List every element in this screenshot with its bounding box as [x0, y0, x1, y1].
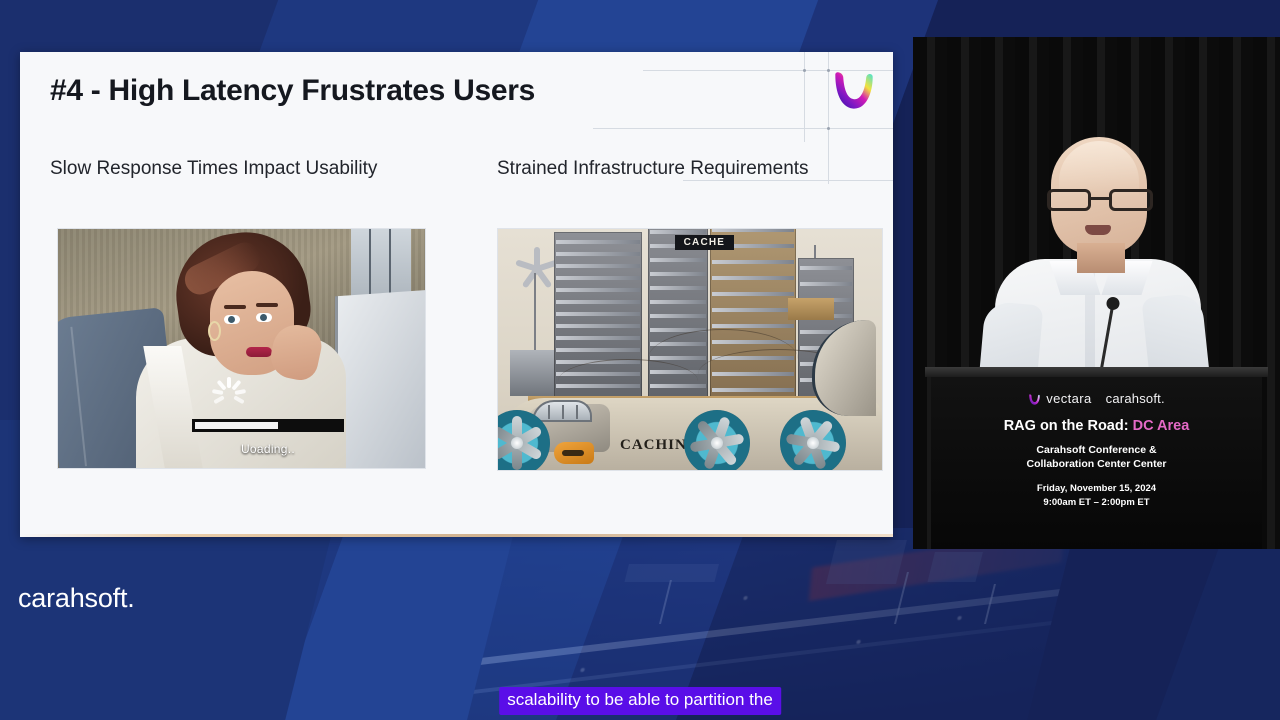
subtitle-caption: scalability to be able to partition the: [499, 687, 781, 715]
airplane-cockpit: [532, 400, 592, 422]
vectara-logo: [813, 64, 883, 134]
building-shape: [826, 540, 907, 584]
podium-event-title-prefix: RAG on the Road:: [1004, 418, 1133, 434]
light-dot: [580, 668, 585, 672]
loading-spinner-icon: [212, 377, 246, 411]
loading-label: Uoading..: [192, 442, 344, 456]
cache-sign-label: CACHE: [675, 235, 735, 250]
crate: [788, 298, 834, 320]
turbine-engine: [780, 410, 846, 471]
podium-time: 9:00am ET – 2:00pm ET: [931, 496, 1262, 509]
podium-event-title-highlight: DC Area: [1133, 418, 1190, 434]
fan-unit: [510, 350, 554, 396]
progress-bar: [192, 419, 344, 432]
podium-datetime: Friday, November 15, 2024 9:00am ET – 2:…: [931, 482, 1262, 509]
computer-monitor: [335, 290, 426, 469]
podium-rail: [925, 367, 1268, 377]
light-dot: [743, 596, 748, 600]
column-heading-left: Slow Response Times Impact Usability: [50, 158, 377, 180]
podium-event-title: RAG on the Road: DC Area: [931, 418, 1262, 434]
vectara-logo-icon: [1028, 393, 1041, 405]
podium-venue-line-1: Carahsoft Conference &: [931, 443, 1262, 457]
podium-date: Friday, November 15, 2024: [931, 482, 1262, 495]
column-heading-right: Strained Infrastructure Requirements: [497, 158, 809, 180]
street-lamp: [659, 580, 672, 624]
light-dot: [957, 616, 962, 620]
figure-frustrated-user: Uoading..: [57, 228, 426, 469]
turbine-engine: [684, 410, 750, 471]
carahsoft-wordmark-podium: carahsoft: [1106, 391, 1165, 406]
vectara-wordmark: vectara: [1046, 391, 1091, 406]
podium-sign: vectara carahsoft RAG on the Road: DC Ar…: [931, 373, 1262, 549]
slide-bottom-rule: [20, 534, 893, 537]
carahsoft-wordmark: carahsoft: [18, 583, 135, 614]
eyeglasses: [1047, 189, 1153, 211]
podium-venue-line-2: Collaboration Center Center: [931, 457, 1262, 471]
earring: [208, 321, 221, 341]
podium-brand-row: vectara carahsoft: [931, 391, 1262, 406]
windmill-icon: [514, 247, 558, 291]
airplane-intake: [554, 442, 594, 464]
slide-title: #4 - High Latency Frustrates Users: [50, 74, 535, 108]
speaker-video-panel[interactable]: vectara carahsoft RAG on the Road: DC Ar…: [913, 37, 1280, 549]
vectara-brand: vectara: [1028, 391, 1091, 406]
podium-venue: Carahsoft Conference & Collaboration Cen…: [931, 443, 1262, 471]
cable: [558, 359, 698, 403]
figure-overloaded-infrastructure: CACHE CACHING: [497, 228, 883, 471]
presentation-slide: #4 - High Latency Frustrates Users Slow …: [20, 52, 893, 537]
building-shape: [927, 552, 982, 582]
